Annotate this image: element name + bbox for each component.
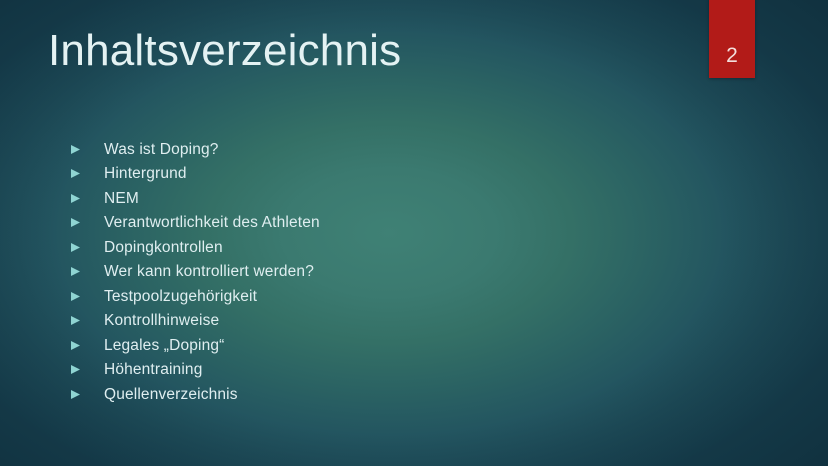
table-of-contents-list: Was ist Doping? Hintergrund NEM Verantwo…: [70, 137, 710, 407]
list-item-label: NEM: [104, 191, 139, 207]
list-item-label: Kontrollhinweise: [104, 313, 219, 329]
list-item[interactable]: NEM: [70, 186, 710, 211]
list-item-label: Quellenverzeichnis: [104, 387, 238, 403]
list-item-label: Wer kann kontrolliert werden?: [104, 264, 314, 280]
list-item-label: Verantwortlichkeit des Athleten: [104, 215, 320, 231]
list-item[interactable]: Testpoolzugehörigkeit: [70, 284, 710, 309]
list-item[interactable]: Hintergrund: [70, 162, 710, 187]
page-number-badge: 2: [709, 0, 755, 78]
list-item[interactable]: Höhentraining: [70, 358, 710, 383]
list-item-label: Dopingkontrollen: [104, 240, 223, 256]
page-title: Inhaltsverzeichnis: [48, 28, 401, 74]
triangle-right-icon: [70, 144, 81, 155]
list-item-label: Legales „Doping“: [104, 338, 224, 354]
list-item[interactable]: Kontrollhinweise: [70, 309, 710, 334]
list-item[interactable]: Wer kann kontrolliert werden?: [70, 260, 710, 285]
list-item[interactable]: Was ist Doping?: [70, 137, 710, 162]
list-item-label: Höhentraining: [104, 362, 202, 378]
triangle-right-icon: [70, 217, 81, 228]
list-item[interactable]: Quellenverzeichnis: [70, 382, 710, 407]
triangle-right-icon: [70, 193, 81, 204]
triangle-right-icon: [70, 340, 81, 351]
list-item[interactable]: Verantwortlichkeit des Athleten: [70, 211, 710, 236]
triangle-right-icon: [70, 364, 81, 375]
triangle-right-icon: [70, 242, 81, 253]
page-number-label: 2: [726, 45, 738, 78]
presentation-slide: Inhaltsverzeichnis 2 Was ist Doping? Hin…: [0, 0, 828, 466]
triangle-right-icon: [70, 389, 81, 400]
list-item-label: Was ist Doping?: [104, 142, 219, 158]
list-item-label: Hintergrund: [104, 166, 187, 182]
triangle-right-icon: [70, 291, 81, 302]
list-item[interactable]: Dopingkontrollen: [70, 235, 710, 260]
triangle-right-icon: [70, 266, 81, 277]
list-item-label: Testpoolzugehörigkeit: [104, 289, 257, 305]
triangle-right-icon: [70, 168, 81, 179]
triangle-right-icon: [70, 315, 81, 326]
list-item[interactable]: Legales „Doping“: [70, 333, 710, 358]
